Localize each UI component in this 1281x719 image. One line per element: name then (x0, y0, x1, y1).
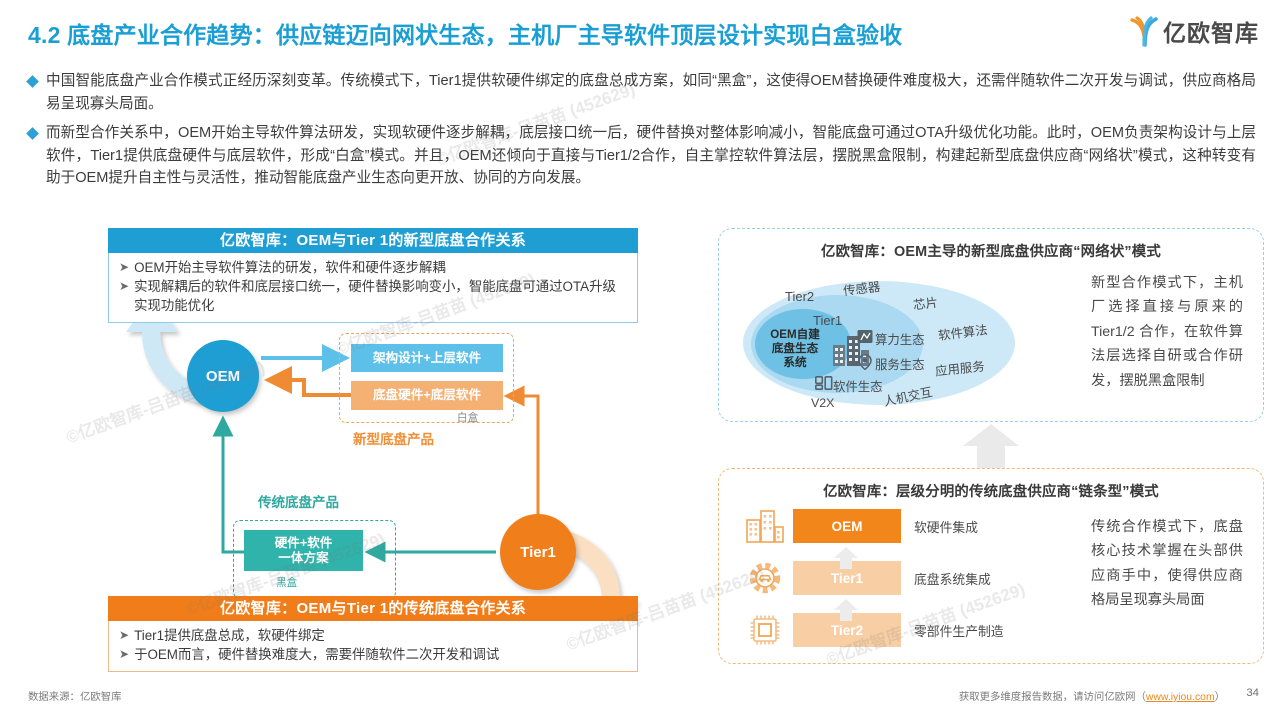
intro-bullet-1-text: 中国智能底盘产业合作模式正经历深刻变革。传统模式下，Tier1提供软硬件绑定的底… (46, 70, 1256, 115)
black-box-label: 黑盒 (276, 575, 297, 590)
iyiou-link[interactable]: www.iyiou.com (1146, 692, 1215, 703)
yiou-sprout-logo-icon (1129, 16, 1159, 47)
page-title: 4.2 底盘产业合作趋势：供应链迈向网状生态，主机厂主导软件顶层设计实现白盒验收 (28, 16, 902, 50)
chevron-right-icon: ➤ (119, 277, 129, 295)
network-mode-title: 亿欧智库：OEM主导的新型底盘供应商“网络状”模式 (719, 240, 1263, 261)
logo-text: 亿欧智库 (1163, 14, 1259, 48)
footer-note-suffix: ） (1215, 692, 1225, 703)
list-item: ➤ OEM开始主导软件算法的研发，软件和硬件逐步解耦 (119, 258, 627, 277)
software-eco-icon (815, 376, 833, 395)
chevron-right-icon: ➤ (119, 258, 129, 276)
new-relationship-card: 亿欧智库：OEM与Tier 1的新型底盘合作关系 ➤ OEM开始主导软件算法的研… (108, 228, 638, 323)
list-item: ➤ 于OEM而言，硬件替换难度大，需要伴随软件二次开发和调试 (119, 645, 627, 664)
venn-label-oem-core: OEM自建 底盘生态 系统 (758, 328, 832, 370)
intro-bullet-2: 而新型合作关系中，OEM开始主导软件算法研发，实现软硬件逐步解耦，底层接口统一后… (28, 122, 1256, 190)
chip-icon (745, 613, 785, 647)
footer-note: 获取更多维度报告数据，请访问亿欧网（www.iyiou.com） (959, 688, 1225, 703)
list-item-text: Tier1提供底盘总成，软硬件绑定 (134, 626, 325, 645)
chain-mode-description: 传统合作模式下，底盘核心技术掌握在头部供应商手中，使得供应商格局呈现寡头局面 (1091, 515, 1243, 613)
chain-mode-card: 亿欧智库：层级分明的传统底盘供应商“链条型”模式 (718, 468, 1264, 664)
chain-mode-title: 亿欧智库：层级分明的传统底盘供应商“链条型”模式 (719, 480, 1263, 501)
chevron-right-icon: ➤ (119, 626, 129, 644)
page-number: 34 (1246, 687, 1259, 699)
gear-car-icon (745, 561, 785, 595)
network-mode-card: 亿欧智库：OEM主导的新型底盘供应商“网络状”模式 Tier2 传感器 芯片 T… (718, 228, 1264, 422)
new-relationship-title: 亿欧智库：OEM与Tier 1的新型底盘合作关系 (108, 228, 638, 253)
legacy-chassis-product-label: 传统底盘产品 (258, 491, 339, 511)
integrated-line-1: 硬件+软件 (275, 536, 333, 550)
brand-logo: 亿欧智库 (1129, 14, 1259, 48)
list-item-text: 实现解耦后的软件和底层接口统一，硬件替换影响变小，智能底盘可通过OTA升级实现功… (134, 277, 627, 315)
legacy-relationship-body: ➤ Tier1提供底盘总成，软硬件绑定 ➤ 于OEM而言，硬件替换难度大，需要伴… (108, 621, 638, 672)
network-venn: Tier2 传感器 芯片 Tier1 OEM自建 底盘生态 系统 (733, 265, 1023, 413)
new-relationship-body: ➤ OEM开始主导软件算法的研发，软件和硬件逐步解耦 ➤ 实现解耦后的软件和底层… (108, 253, 638, 323)
chain-up-arrow-icon (833, 599, 859, 621)
arch-software-box: 架构设计+上层软件 (351, 344, 503, 372)
legacy-relationship-card: 亿欧智库：OEM与Tier 1的传统底盘合作关系 ➤ Tier1提供底盘总成，软… (108, 596, 638, 672)
chevron-right-icon: ➤ (119, 645, 129, 663)
compute-eco-icon (857, 329, 873, 350)
venn-label-software-eco: 软件生态 (833, 377, 883, 395)
data-source: 数据来源：亿欧智库 (28, 688, 122, 703)
integrated-line-2: 一体方案 (278, 551, 328, 565)
diamond-bullet-icon (26, 75, 39, 88)
chain-row-tier2: Tier2 零部件生产制造 (745, 611, 1025, 649)
chain-label-oem: OEM (793, 509, 901, 543)
list-item: ➤ 实现解耦后的软件和底层接口统一，硬件替换影响变小，智能底盘可通过OTA升级实… (119, 277, 627, 315)
venn-label-service-eco: 服务生态 (875, 355, 925, 373)
oem-core-line-1: OEM自建 (770, 328, 820, 341)
right-diagram: 亿欧智库：OEM主导的新型底盘供应商“网络状”模式 Tier2 传感器 芯片 T… (718, 228, 1264, 670)
oem-core-line-2: 底盘生态 (772, 342, 818, 355)
footer-note-prefix: 获取更多维度报告数据，请访问亿欧网（ (959, 692, 1146, 703)
integrated-solution-box: 硬件+软件 一体方案 (244, 530, 363, 571)
venn-label-v2x: V2X (811, 396, 834, 410)
chassis-hardware-box: 底盘硬件+底层软件 (351, 381, 503, 410)
white-box-label: 白盒 (457, 410, 478, 425)
network-mode-description: 新型合作模式下，主机厂选择直接与原来的 Tier1/2 合作，在软件算法层选择自… (1091, 271, 1243, 393)
diamond-bullet-icon (26, 127, 39, 140)
transition-up-arrow-icon (961, 424, 1021, 468)
slide: 4.2 底盘产业合作趋势：供应链迈向网状生态，主机厂主导软件顶层设计实现白盒验收… (0, 0, 1281, 719)
oem-core-line-3: 系统 (783, 356, 806, 369)
factory-icon (745, 509, 785, 543)
chain-desc-tier1: 底盘系统集成 (914, 569, 991, 588)
legacy-relationship-title: 亿欧智库：OEM与Tier 1的传统底盘合作关系 (108, 596, 638, 621)
left-diagram: 亿欧智库：OEM与Tier 1的新型底盘合作关系 ➤ OEM开始主导软件算法的研… (108, 228, 646, 668)
venn-label-tier2: Tier2 (785, 289, 814, 304)
list-item: ➤ Tier1提供底盘总成，软硬件绑定 (119, 626, 627, 645)
chain-rows: OEM 软硬件集成 (745, 507, 1025, 663)
new-chassis-product-label: 新型底盘产品 (353, 428, 434, 448)
oem-node: OEM (187, 340, 259, 412)
intro-bullet-2-text: 而新型合作关系中，OEM开始主导软件算法研发，实现软硬件逐步解耦，底层接口统一后… (46, 122, 1256, 190)
venn-label-tier1: Tier1 (813, 313, 842, 328)
chain-row-oem: OEM 软硬件集成 (745, 507, 1025, 545)
list-item-text: 于OEM而言，硬件替换难度大，需要伴随软件二次开发和调试 (134, 645, 499, 664)
intro-bullets: 中国智能底盘产业合作模式正经历深刻变革。传统模式下，Tier1提供软硬件绑定的底… (28, 70, 1256, 197)
venn-label-compute-eco: 算力生态 (875, 330, 925, 348)
intro-bullet-1: 中国智能底盘产业合作模式正经历深刻变革。传统模式下，Tier1提供软硬件绑定的底… (28, 70, 1256, 115)
chain-up-arrow-icon (833, 547, 859, 569)
list-item-text: OEM开始主导软件算法的研发，软件和硬件逐步解耦 (134, 258, 446, 277)
chain-row-tier1: Tier1 底盘系统集成 (745, 559, 1025, 597)
service-eco-icon (857, 354, 873, 375)
tier1-node: Tier1 (500, 514, 576, 590)
chain-desc-oem: 软硬件集成 (914, 517, 978, 536)
chain-desc-tier2: 零部件生产制造 (914, 621, 1004, 640)
venn-label-chip: 芯片 (912, 293, 939, 314)
